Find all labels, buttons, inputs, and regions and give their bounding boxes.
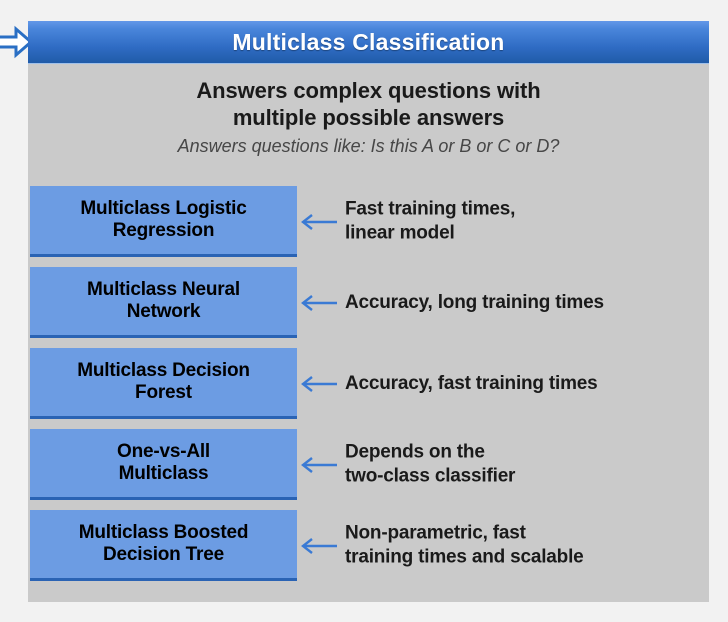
algorithm-box[interactable]: Multiclass Boosted Decision Tree <box>30 510 297 581</box>
table-row: Multiclass Decision Forest Accuracy, fas… <box>30 348 707 419</box>
arrow-left-icon <box>300 374 338 394</box>
table-row: One-vs-All Multiclass Depends on the two… <box>30 429 707 500</box>
arrow-left-icon <box>300 293 338 313</box>
algorithm-description: Accuracy, fast training times <box>345 371 703 395</box>
headline-block: Answers complex questions with multiple … <box>28 64 709 159</box>
algorithm-label: One-vs-All Multiclass <box>117 441 210 486</box>
algorithm-rows: Multiclass Logistic Regression Fast trai… <box>30 186 707 581</box>
algorithm-description: Depends on the two-class classifier <box>345 440 703 489</box>
algorithm-description: Fast training times, linear model <box>345 197 703 246</box>
algorithm-label: Multiclass Logistic Regression <box>80 198 246 243</box>
algorithm-box[interactable]: Multiclass Neural Network <box>30 267 297 338</box>
algorithm-description: Non-parametric, fast training times and … <box>345 521 703 570</box>
arrow-left-icon <box>300 455 338 475</box>
arrow-left-icon <box>300 212 338 232</box>
table-row: Multiclass Neural Network Accuracy, long… <box>30 267 707 338</box>
slide-canvas: Multiclass Classification Answers comple… <box>0 0 728 622</box>
algorithm-label: Multiclass Boosted Decision Tree <box>79 522 249 567</box>
multiclass-classification-card: Multiclass Classification Answers comple… <box>28 21 709 602</box>
table-row: Multiclass Logistic Regression Fast trai… <box>30 186 707 257</box>
algorithm-label: Multiclass Neural Network <box>87 279 240 324</box>
page-title: Multiclass Classification <box>232 31 504 54</box>
algorithm-box[interactable]: Multiclass Logistic Regression <box>30 186 297 257</box>
headline-text: Answers complex questions with multiple … <box>54 78 683 132</box>
subheadline-text: Answers questions like: Is this A or B o… <box>54 136 683 158</box>
table-row: Multiclass Boosted Decision Tree Non-par… <box>30 510 707 581</box>
card-header: Multiclass Classification <box>28 21 709 64</box>
algorithm-label: Multiclass Decision Forest <box>77 360 250 405</box>
arrow-left-icon <box>300 536 338 556</box>
algorithm-box[interactable]: Multiclass Decision Forest <box>30 348 297 419</box>
algorithm-box[interactable]: One-vs-All Multiclass <box>30 429 297 500</box>
algorithm-description: Accuracy, long training times <box>345 290 703 314</box>
